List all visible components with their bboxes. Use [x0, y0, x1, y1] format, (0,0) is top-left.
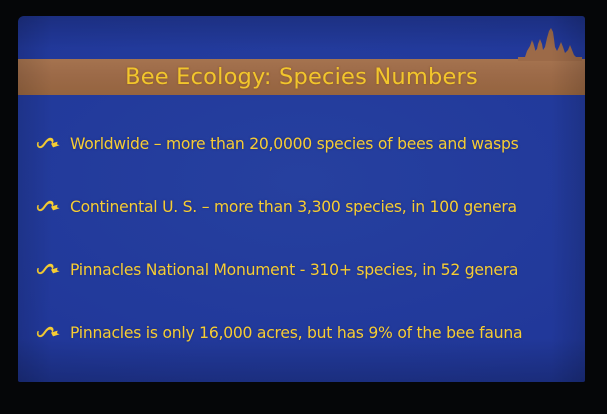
list-item: Pinnacles National Monument - 310+ speci…	[18, 238, 585, 301]
bullet-list: Worldwide – more than 20,0000 species of…	[18, 112, 585, 364]
wave-swash-bullet-icon	[35, 325, 61, 341]
list-item-label: Pinnacles National Monument - 310+ speci…	[70, 261, 518, 279]
presentation-slide: Bee Ecology: Species Numbers Worldwide –…	[18, 16, 585, 382]
list-item-label: Pinnacles is only 16,000 acres, but has …	[70, 324, 522, 342]
rock-spires-icon	[518, 27, 582, 61]
list-item: Worldwide – more than 20,0000 species of…	[18, 112, 585, 175]
wave-swash-svg	[35, 325, 61, 341]
page-title: Bee Ecology: Species Numbers	[18, 60, 585, 94]
wave-swash-bullet-icon	[35, 199, 61, 215]
list-item-label: Continental U. S. – more than 3,300 spec…	[70, 198, 517, 216]
wave-swash-bullet-icon	[35, 262, 61, 278]
list-item: Continental U. S. – more than 3,300 spec…	[18, 175, 585, 238]
slide-frame: Bee Ecology: Species Numbers Worldwide –…	[0, 0, 607, 414]
wave-swash-svg	[35, 262, 61, 278]
list-item-label: Worldwide – more than 20,0000 species of…	[70, 135, 519, 153]
list-item: Pinnacles is only 16,000 acres, but has …	[18, 301, 585, 364]
rock-spires-svg	[518, 27, 582, 61]
wave-swash-svg	[35, 199, 61, 215]
wave-swash-svg	[35, 136, 61, 152]
wave-swash-bullet-icon	[35, 136, 61, 152]
